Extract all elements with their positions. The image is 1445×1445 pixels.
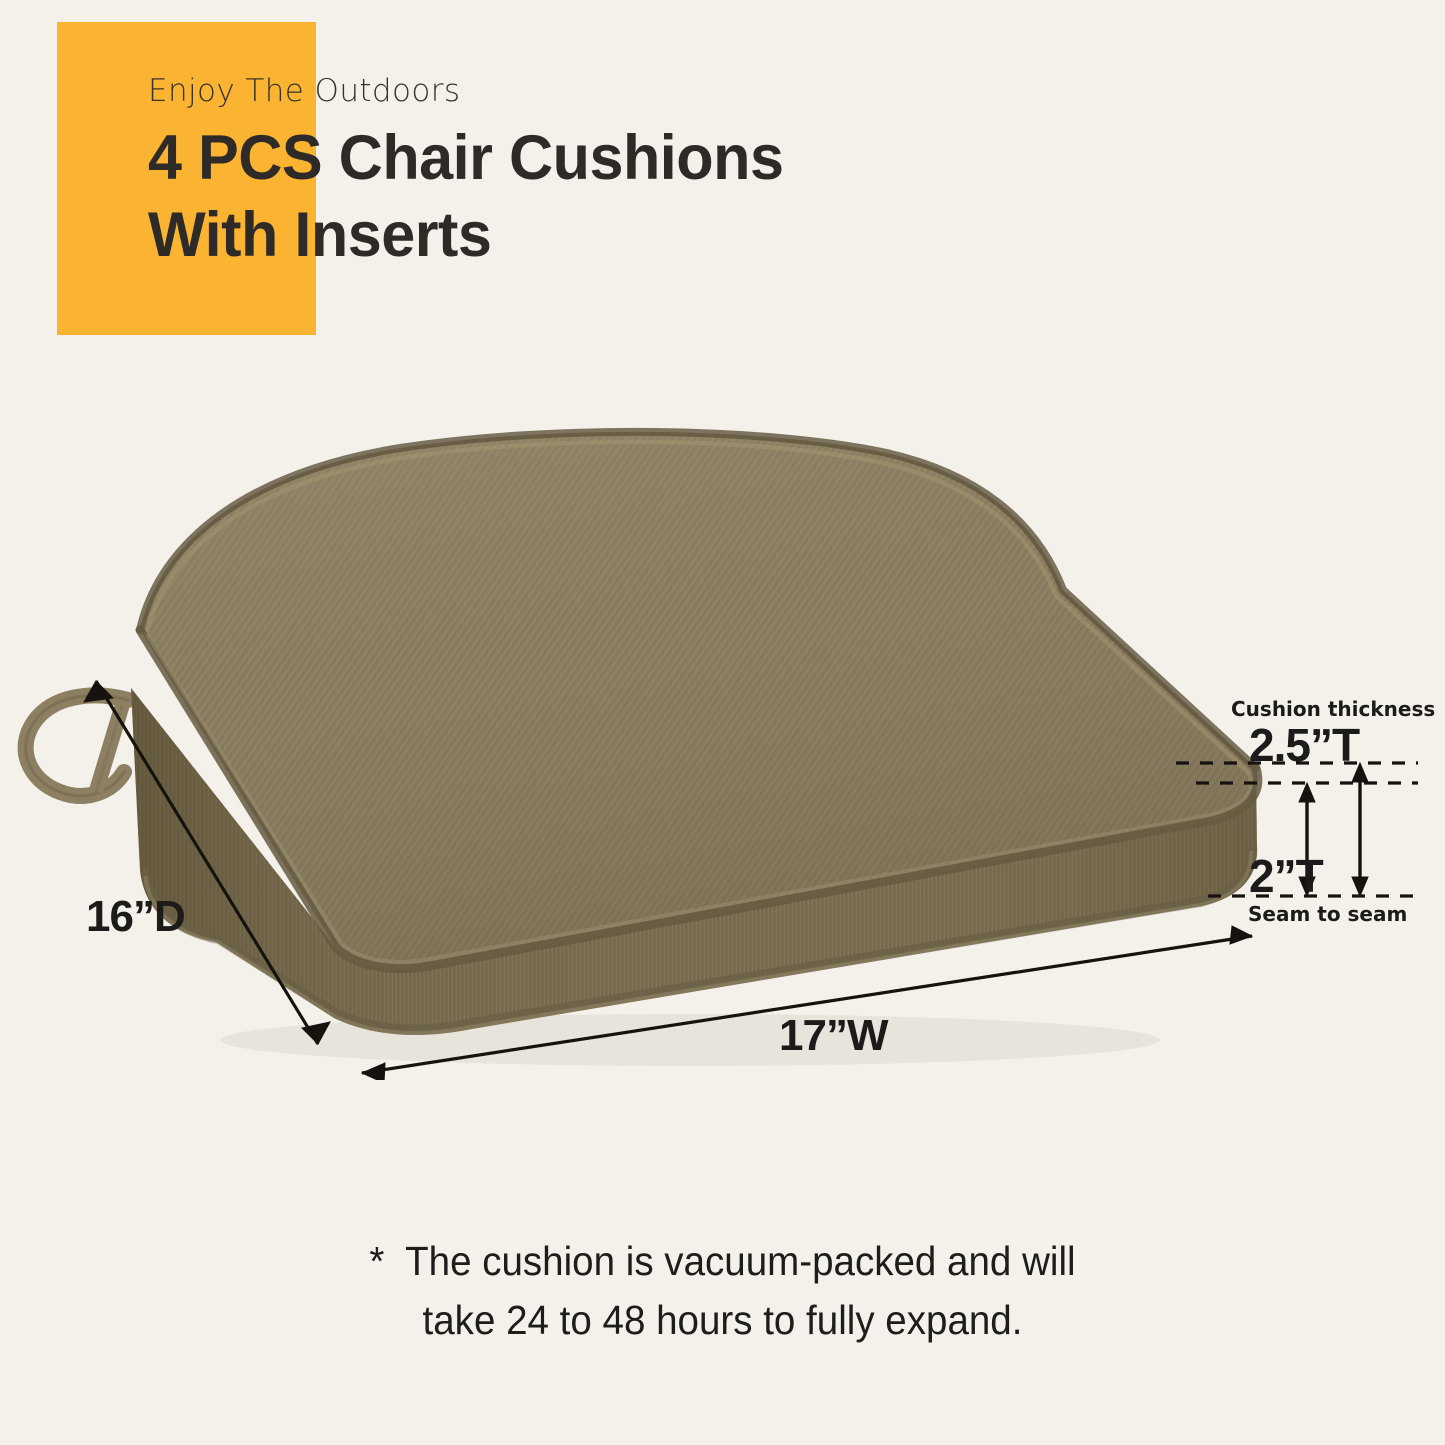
title-line-1: 4 PCS Chair Cushions (148, 123, 783, 193)
footnote-line-2: take 24 to 48 hours to fully expand. (43, 1291, 1401, 1350)
footnote-line-1: *The cushion is vacuum-packed and will (43, 1232, 1401, 1291)
asterisk-icon: * (369, 1238, 384, 1284)
depth-label: 16”D (86, 895, 185, 939)
thickness-caption: Cushion thickness (1231, 699, 1435, 719)
eyebrow-text: Enjoy The Outdoors (148, 76, 460, 107)
page-title: 4 PCS Chair Cushions With Inserts (148, 120, 783, 274)
width-label: 17”W (779, 1014, 887, 1058)
total-thickness-label: 2.5”T (1249, 722, 1359, 768)
infographic-canvas: Enjoy The Outdoors 4 PCS Chair Cushions … (0, 0, 1445, 1445)
footnote: *The cushion is vacuum-packed and will t… (0, 1232, 1445, 1351)
product-image (0, 400, 1445, 1080)
seam-thickness-label: 2”T (1249, 853, 1323, 899)
seam-caption: Seam to seam (1248, 904, 1407, 924)
footnote-text-1: The cushion is vacuum-packed and will (405, 1238, 1075, 1284)
cushion-illustration (0, 400, 1445, 1080)
title-line-2: With Inserts (148, 197, 783, 274)
